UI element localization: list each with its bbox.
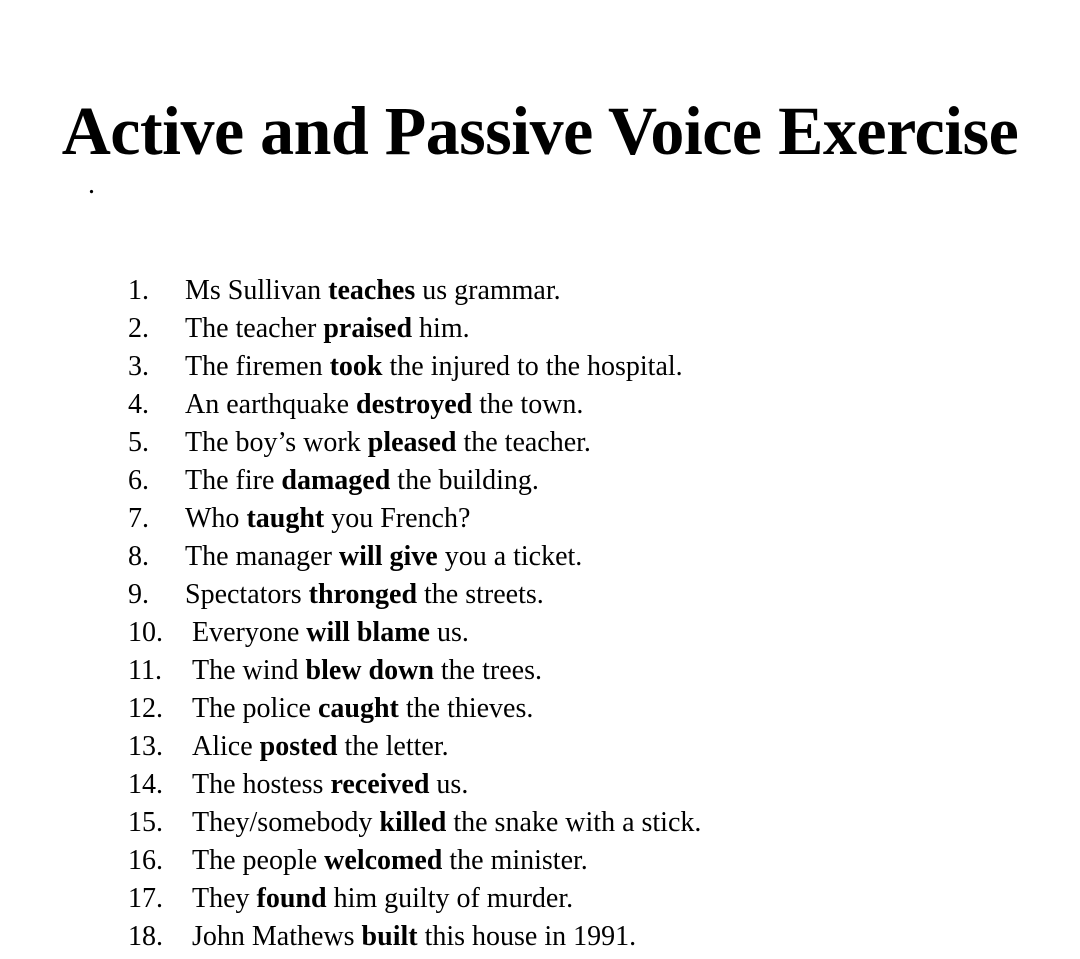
list-item-text: The firemen took the injured to the hosp… bbox=[185, 348, 1080, 386]
list-item-number: 10. bbox=[128, 614, 180, 652]
sentence-suffix: you a ticket. bbox=[438, 541, 583, 572]
list-item-text: The wind blew down the trees. bbox=[192, 652, 1080, 690]
sentence-prefix: The fire bbox=[185, 465, 281, 496]
sentence-verb: received bbox=[330, 769, 429, 800]
list-item-number: 18. bbox=[128, 918, 180, 956]
sentence-suffix: the building. bbox=[390, 465, 539, 496]
sentence-suffix: the thieves. bbox=[399, 693, 534, 724]
list-item-text: They/somebody killed the snake with a st… bbox=[192, 804, 1080, 842]
sentence-prefix: The wind bbox=[192, 655, 306, 686]
sentence-prefix: Alice bbox=[192, 731, 260, 762]
list-item: 11.The wind blew down the trees. bbox=[128, 652, 1080, 690]
sentence-suffix: this house in 1991. bbox=[418, 921, 637, 952]
list-item: 9.Spectators thronged the streets. bbox=[128, 576, 1080, 614]
list-item-text: The police caught the thieves. bbox=[192, 690, 1080, 728]
sentence-suffix: us. bbox=[429, 769, 468, 800]
list-item-text: Everyone will blame us. bbox=[192, 614, 1080, 652]
list-item-number: 15. bbox=[128, 804, 180, 842]
sentence-verb: found bbox=[257, 883, 327, 914]
list-item-number: 8. bbox=[128, 538, 180, 576]
list-item: 7.Who taught you French? bbox=[128, 500, 1080, 538]
list-item-number: 2. bbox=[128, 310, 180, 348]
sentence-verb: damaged bbox=[281, 465, 390, 496]
list-item: 14.The hostess received us. bbox=[128, 766, 1080, 804]
sentence-prefix: They bbox=[192, 883, 257, 914]
sentence-verb: killed bbox=[379, 807, 446, 838]
list-item-text: Ms Sullivan teaches us grammar. bbox=[185, 272, 1080, 310]
sentence-verb: welcomed bbox=[324, 845, 442, 876]
sentence-prefix: The people bbox=[192, 845, 324, 876]
sentence-suffix: the town. bbox=[472, 389, 583, 420]
sentence-verb: caught bbox=[318, 693, 399, 724]
sentence-prefix: The police bbox=[192, 693, 318, 724]
sentence-suffix: the streets. bbox=[417, 579, 544, 610]
list-item-text: The fire damaged the building. bbox=[185, 462, 1080, 500]
list-item-text: An earthquake destroyed the town. bbox=[185, 386, 1080, 424]
list-item: 6.The fire damaged the building. bbox=[128, 462, 1080, 500]
sentence-prefix: The teacher bbox=[185, 313, 323, 344]
sentence-prefix: The boy’s work bbox=[185, 427, 368, 458]
sentence-prefix: The manager bbox=[185, 541, 339, 572]
list-item-number: 7. bbox=[128, 500, 180, 538]
sentence-verb: will blame bbox=[306, 617, 430, 648]
list-item-number: 6. bbox=[128, 462, 180, 500]
list-item-text: The hostess received us. bbox=[192, 766, 1080, 804]
sentence-suffix: the injured to the hospital. bbox=[383, 351, 683, 382]
sentence-suffix: the teacher. bbox=[456, 427, 590, 458]
sentence-verb: teaches bbox=[328, 275, 415, 306]
sentence-prefix: Everyone bbox=[192, 617, 306, 648]
list-item: 13.Alice posted the letter. bbox=[128, 728, 1080, 766]
sentence-verb: posted bbox=[260, 731, 338, 762]
sentence-suffix: the letter. bbox=[337, 731, 448, 762]
list-item: 18.John Mathews built this house in 1991… bbox=[128, 918, 1080, 956]
sentence-suffix: the snake with a stick. bbox=[446, 807, 701, 838]
sentence-prefix: Who bbox=[185, 503, 246, 534]
list-item-text: The manager will give you a ticket. bbox=[185, 538, 1080, 576]
sentence-suffix: the minister. bbox=[442, 845, 587, 876]
list-item-number: 9. bbox=[128, 576, 180, 614]
list-item-number: 4. bbox=[128, 386, 180, 424]
stray-period-paragraph: . bbox=[88, 166, 95, 204]
sentence-verb: praised bbox=[323, 313, 412, 344]
sentence-prefix: Spectators bbox=[185, 579, 309, 610]
sentence-suffix: us grammar. bbox=[415, 275, 560, 306]
list-item-number: 3. bbox=[128, 348, 180, 386]
exercise-list: 1.Ms Sullivan teaches us grammar.2.The t… bbox=[88, 272, 1080, 956]
sentence-prefix: John Mathews bbox=[192, 921, 362, 952]
sentence-verb: built bbox=[362, 921, 418, 952]
list-item-text: John Mathews built this house in 1991. bbox=[192, 918, 1080, 956]
sentence-verb: blew down bbox=[306, 655, 434, 686]
list-item-text: The boy’s work pleased the teacher. bbox=[185, 424, 1080, 462]
sentence-verb: will give bbox=[339, 541, 438, 572]
list-item: 12.The police caught the thieves. bbox=[128, 690, 1080, 728]
sentence-prefix: The firemen bbox=[185, 351, 330, 382]
sentence-verb: thronged bbox=[309, 579, 417, 610]
sentence-suffix: him guilty of murder. bbox=[327, 883, 574, 914]
sentence-prefix: An earthquake bbox=[185, 389, 356, 420]
sentence-verb: destroyed bbox=[356, 389, 472, 420]
list-item: 15.They/somebody killed the snake with a… bbox=[128, 804, 1080, 842]
list-item: 17.They found him guilty of murder. bbox=[128, 880, 1080, 918]
sentence-suffix: us. bbox=[430, 617, 469, 648]
list-item: 16.The people welcomed the minister. bbox=[128, 842, 1080, 880]
list-item: 5.The boy’s work pleased the teacher. bbox=[128, 424, 1080, 462]
list-item-number: 14. bbox=[128, 766, 180, 804]
sentence-suffix: the trees. bbox=[434, 655, 542, 686]
list-item-text: Spectators thronged the streets. bbox=[185, 576, 1080, 614]
sentence-suffix: you French? bbox=[324, 503, 470, 534]
list-item-number: 17. bbox=[128, 880, 180, 918]
list-item: 8.The manager will give you a ticket. bbox=[128, 538, 1080, 576]
sentence-prefix: Ms Sullivan bbox=[185, 275, 328, 306]
page-title: Active and Passive Voice Exercise bbox=[8, 92, 1072, 170]
sentence-verb: taught bbox=[246, 503, 324, 534]
list-item-number: 1. bbox=[128, 272, 180, 310]
list-item-text: Alice posted the letter. bbox=[192, 728, 1080, 766]
list-item-text: They found him guilty of murder. bbox=[192, 880, 1080, 918]
list-item-number: 5. bbox=[128, 424, 180, 462]
list-item-number: 13. bbox=[128, 728, 180, 766]
list-item-text: The teacher praised him. bbox=[185, 310, 1080, 348]
sentence-verb: pleased bbox=[368, 427, 457, 458]
list-item: 4.An earthquake destroyed the town. bbox=[128, 386, 1080, 424]
list-item: 3.The firemen took the injured to the ho… bbox=[128, 348, 1080, 386]
list-item-number: 16. bbox=[128, 842, 180, 880]
sentence-suffix: him. bbox=[412, 313, 470, 344]
sentence-prefix: The hostess bbox=[192, 769, 330, 800]
list-item: 10.Everyone will blame us. bbox=[128, 614, 1080, 652]
list-item-number: 11. bbox=[128, 652, 180, 690]
list-item-text: Who taught you French? bbox=[185, 500, 1080, 538]
sentence-prefix: They/somebody bbox=[192, 807, 379, 838]
document-page: Active and Passive Voice Exercise . 1.Ms… bbox=[0, 0, 1080, 959]
list-item-text: The people welcomed the minister. bbox=[192, 842, 1080, 880]
sentence-verb: took bbox=[330, 351, 383, 382]
list-item: 2.The teacher praised him. bbox=[128, 310, 1080, 348]
list-item: 1.Ms Sullivan teaches us grammar. bbox=[128, 272, 1080, 310]
list-item-number: 12. bbox=[128, 690, 180, 728]
